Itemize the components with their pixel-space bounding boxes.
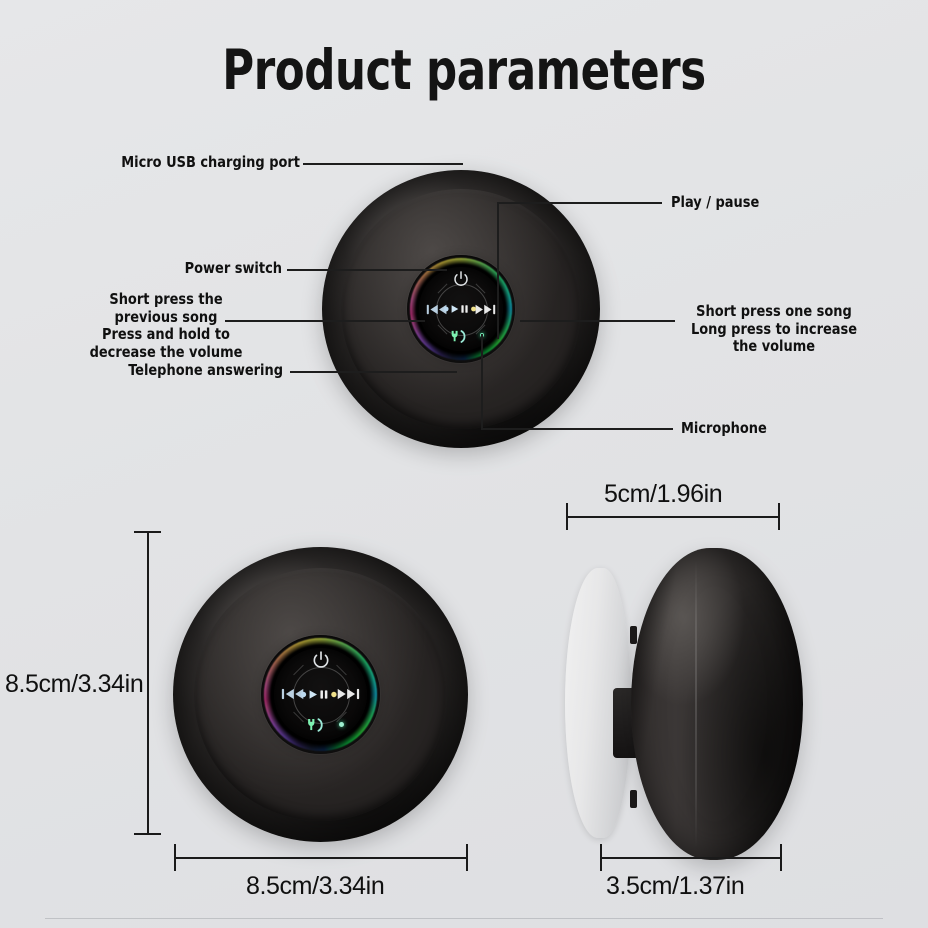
leader-next-song: [520, 320, 675, 322]
dimension-line-front-height: [147, 531, 149, 835]
callout-next-song: Short press one song Long press to incre…: [685, 303, 864, 356]
leader-microphone-horizontal: [481, 428, 673, 430]
footer-separator: [45, 918, 883, 919]
dimension-cap-left: [566, 503, 568, 530]
side-notch-bottom: [630, 790, 637, 808]
side-notch-top: [630, 626, 637, 644]
dimension-top-width-label: 5cm/1.96in: [604, 480, 722, 509]
dimension-front-height-label: 8.5cm/3.34in: [5, 670, 143, 699]
callout-telephone-answering: Telephone answering: [92, 362, 283, 380]
dimension-cap-right: [780, 844, 782, 871]
callout-play-pause: Play / pause: [671, 194, 857, 212]
leader-play-pause-horizontal: [497, 202, 662, 204]
dimension-line-side-depth: [600, 857, 782, 859]
callout-microphone: Microphone: [681, 420, 848, 438]
leader-play-pause-vertical: [497, 202, 499, 339]
callout-power-switch: Power switch: [116, 260, 282, 278]
dimension-cap-left: [174, 844, 176, 871]
dimension-cap-left: [600, 844, 602, 871]
dimension-cap-right: [778, 503, 780, 530]
dimension-cap-top: [134, 531, 161, 533]
speaker-body-side: [631, 548, 803, 860]
body-seam: [695, 560, 697, 848]
product-side-view: [555, 530, 815, 860]
dimension-cap-bottom: [134, 833, 161, 835]
leader-telephone: [290, 371, 457, 373]
leader-micro-usb: [303, 163, 463, 165]
dimension-cap-right: [466, 844, 468, 871]
microphone-pinhole: [339, 722, 344, 727]
product-front-view: [173, 547, 468, 842]
leader-power-switch: [287, 269, 447, 271]
dimension-line-front-width: [174, 857, 468, 859]
dimension-side-depth-label: 3.5cm/1.37in: [606, 872, 744, 901]
dimension-line-top-width: [566, 516, 780, 518]
callout-previous-song: Short press the previous song Press and …: [64, 291, 269, 361]
infographic-canvas: Product parameters: [0, 0, 928, 928]
product-top-view: [322, 170, 600, 448]
callout-micro-usb: Micro USB charging port: [77, 154, 300, 172]
page-title: Product parameters: [56, 38, 873, 102]
dimension-front-width-label: 8.5cm/3.34in: [246, 872, 384, 901]
leader-microphone-vertical: [481, 334, 483, 429]
